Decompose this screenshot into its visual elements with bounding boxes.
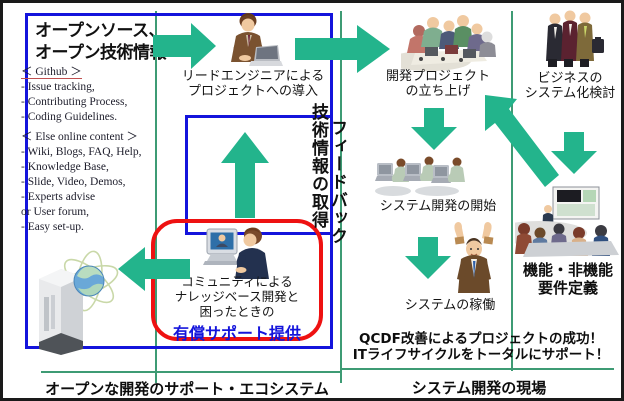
developers-at-pcs-icon: [375, 155, 483, 197]
dev-start-caption-line1: システム開発の開始: [363, 199, 513, 214]
github-item-2: - Coding Guidelines.: [21, 110, 127, 125]
system-running-caption-line1: システムの稼働: [385, 298, 515, 313]
server-globe-icon: [31, 245, 131, 355]
vertical-label-feedback: フィードバック: [325, 119, 350, 245]
divider-bottom-left: [41, 371, 341, 373]
project-meeting-icon: [401, 9, 497, 73]
business-people-icon: [543, 9, 605, 69]
cheering-person-icon: [447, 219, 503, 295]
panel-title-line2: オープン技術情報: [35, 38, 166, 63]
else-item-3: - Experts advise: [21, 190, 142, 205]
community-caption-line3: 困ったときの: [157, 305, 317, 320]
arrow-oss-to-engineer: [153, 21, 217, 76]
else-online-section: ＜ Else online content ＞ - Wiki, Blogs, F…: [21, 130, 142, 235]
system-running-caption: システムの稼働: [385, 298, 515, 313]
arrow-community-up: [219, 131, 271, 224]
community-support-pc-icon: [201, 225, 275, 279]
requirements-caption-line1: 機能・非機能: [509, 261, 624, 279]
divider-bottom-right: [340, 368, 614, 370]
result-text-line2: ITライフサイクルをトータルにサポート！: [341, 347, 621, 363]
github-item-0: - Issue tracking,: [21, 80, 127, 95]
result-text-line1: QCDF改善によるプロジェクトの成功！: [341, 331, 621, 347]
business-study-caption-line1: ビジネスの: [515, 71, 624, 86]
bottom-label-right: システム開発の現場: [341, 377, 617, 398]
engineer-laptop-icon: [221, 11, 283, 71]
bottom-label-left: オープンな開発のサポート・エコシステム: [37, 378, 337, 399]
else-header: ＜ Else online content ＞: [21, 130, 142, 145]
requirements-presentation-icon: [515, 185, 624, 263]
else-item-5: - Easy set-up.: [21, 220, 142, 235]
arrow-community-to-oss: [117, 245, 191, 298]
else-item-4: or User forum,: [21, 205, 142, 220]
dev-start-caption: システム開発の開始: [363, 199, 513, 214]
lead-engineer-caption-line2: プロジェクトへの導入: [167, 84, 339, 99]
requirements-caption-line2: 要件定義: [509, 279, 624, 297]
result-text: QCDF改善によるプロジェクトの成功！ ITライフサイクルをトータルにサポート！: [341, 331, 621, 363]
github-item-1: - Contributing Process,: [21, 95, 127, 110]
github-section: ＜ Github ＞ - Issue tracking, - Contribut…: [21, 65, 127, 125]
arrow-devstart-to-running: [403, 236, 453, 285]
arrow-project-to-devstart: [409, 107, 459, 156]
diagram-canvas: オープンソース、 オープン技術情報 ＜ Github ＞ - Issue tra…: [0, 0, 624, 401]
else-item-1: - Knowledge Base,: [21, 160, 142, 175]
github-header: ＜ Github ＞: [21, 65, 127, 80]
arrow-engineer-to-project: [295, 23, 391, 80]
paid-support-label: 有償サポート提供: [157, 320, 317, 344]
else-item-0: - Wiki, Blogs, FAQ, Help,: [21, 145, 142, 160]
arrow-requirements-to-project: [479, 89, 563, 194]
else-item-2: - Slide, Video, Demos,: [21, 175, 142, 190]
requirements-caption: 機能・非機能 要件定義: [509, 261, 624, 297]
